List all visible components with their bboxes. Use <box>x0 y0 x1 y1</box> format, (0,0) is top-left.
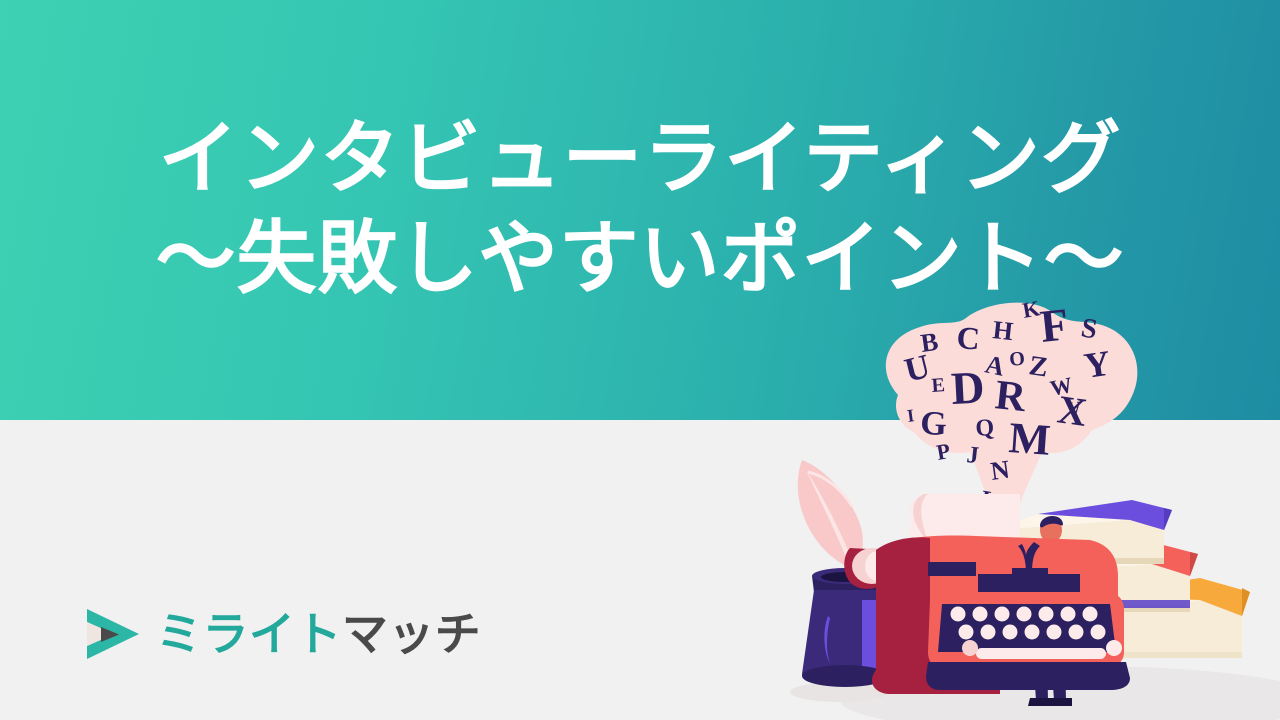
brand-logo-text-primary: ミライト <box>156 608 342 660</box>
svg-text:D: D <box>950 361 986 414</box>
svg-text:C: C <box>956 319 982 357</box>
svg-text:E: E <box>931 374 946 397</box>
svg-text:H: H <box>991 315 1014 346</box>
brand-logo[interactable]: ミライトマッチ <box>84 606 481 662</box>
svg-text:V: V <box>1066 398 1083 421</box>
svg-text:M: M <box>1007 413 1052 465</box>
svg-text:G: G <box>920 405 948 443</box>
brand-logo-text: ミライトマッチ <box>156 611 481 657</box>
svg-text:F: F <box>1038 300 1071 352</box>
title-slide: インタビューライティング 〜失敗しやすいポイント〜 U B C K H F S … <box>0 0 1280 720</box>
svg-text:Y: Y <box>1082 343 1113 386</box>
hero-illustration: U B C K H F S E A O Z Y D R W X I G Q M <box>780 300 1280 720</box>
brand-logo-text-secondary: マッチ <box>342 608 481 660</box>
svg-text:Q: Q <box>975 415 995 442</box>
svg-text:O: O <box>1008 347 1026 371</box>
play-triangle-icon <box>84 606 142 662</box>
